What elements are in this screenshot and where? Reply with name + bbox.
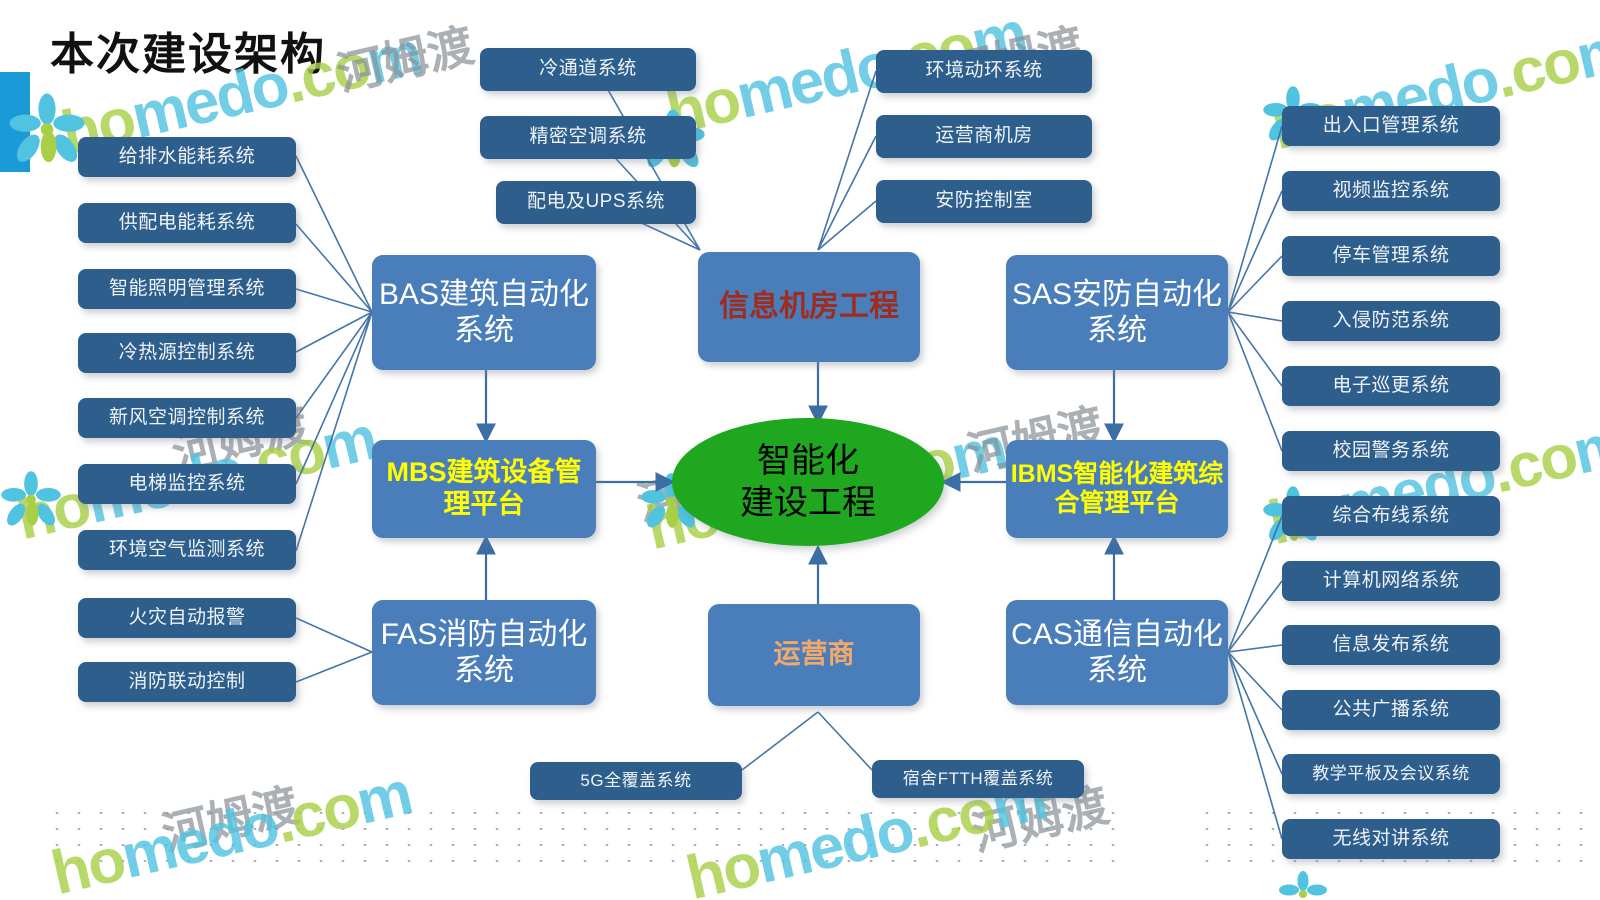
node-ibms[interactable]: IBMS智能化建筑综合管理平台 <box>1006 440 1228 538</box>
list-item[interactable]: 校园警务系统 <box>1282 431 1500 471</box>
list-item[interactable]: 宿舍FTTH覆盖系统 <box>872 760 1084 798</box>
list-item[interactable]: 教学平板及会议系统 <box>1282 754 1500 794</box>
hub-line-2: 建设工程 <box>740 484 876 522</box>
list-item[interactable]: 电梯监控系统 <box>78 464 296 504</box>
list-item[interactable]: 视频监控系统 <box>1282 171 1500 211</box>
node-bas[interactable]: BAS建筑自动化系统 <box>372 255 596 370</box>
list-item[interactable]: 5G全覆盖系统 <box>530 762 742 800</box>
list-item[interactable]: 环境动环系统 <box>876 50 1092 93</box>
list-item[interactable]: 新风空调控制系统 <box>78 398 296 438</box>
list-item[interactable]: 智能照明管理系统 <box>78 269 296 309</box>
list-item[interactable]: 安防控制室 <box>876 180 1092 223</box>
node-operator[interactable]: 运营商 <box>708 604 920 706</box>
list-item[interactable]: 冷热源控制系统 <box>78 333 296 373</box>
diagram-canvas: 本次建设架构 homedo.com 河姆渡 homedo.com 河姆渡 hom… <box>0 0 1600 900</box>
list-item[interactable]: 综合布线系统 <box>1282 496 1500 536</box>
list-item[interactable]: 给排水能耗系统 <box>78 137 296 177</box>
hub-line-1: 智能化 <box>757 442 859 480</box>
list-item[interactable]: 公共广播系统 <box>1282 690 1500 730</box>
list-item[interactable]: 环境空气监测系统 <box>78 530 296 570</box>
list-item[interactable]: 火灾自动报警 <box>78 598 296 638</box>
list-item[interactable]: 电子巡更系统 <box>1282 366 1500 406</box>
list-item[interactable]: 出入口管理系统 <box>1282 106 1500 146</box>
list-item[interactable]: 运营商机房 <box>876 115 1092 158</box>
list-item[interactable]: 信息发布系统 <box>1282 625 1500 665</box>
list-item[interactable]: 精密空调系统 <box>480 116 696 159</box>
node-fas[interactable]: FAS消防自动化系统 <box>372 600 596 705</box>
list-item[interactable]: 配电及UPS系统 <box>496 181 696 224</box>
node-cas[interactable]: CAS通信自动化系统 <box>1006 600 1228 705</box>
node-information-equipment-room[interactable]: 信息机房工程 <box>698 252 920 362</box>
node-sas[interactable]: SAS安防自动化系统 <box>1006 255 1228 370</box>
list-item[interactable]: 入侵防范系统 <box>1282 301 1500 341</box>
list-item[interactable]: 供配电能耗系统 <box>78 203 296 243</box>
list-item[interactable]: 计算机网络系统 <box>1282 561 1500 601</box>
central-hub-node[interactable]: 智能化 建设工程 <box>672 418 944 546</box>
list-item[interactable]: 无线对讲系统 <box>1282 819 1500 859</box>
node-mbs[interactable]: MBS建筑设备管理平台 <box>372 440 596 538</box>
list-item[interactable]: 消防联动控制 <box>78 662 296 702</box>
list-item[interactable]: 停车管理系统 <box>1282 236 1500 276</box>
list-item[interactable]: 冷通道系统 <box>480 48 696 91</box>
